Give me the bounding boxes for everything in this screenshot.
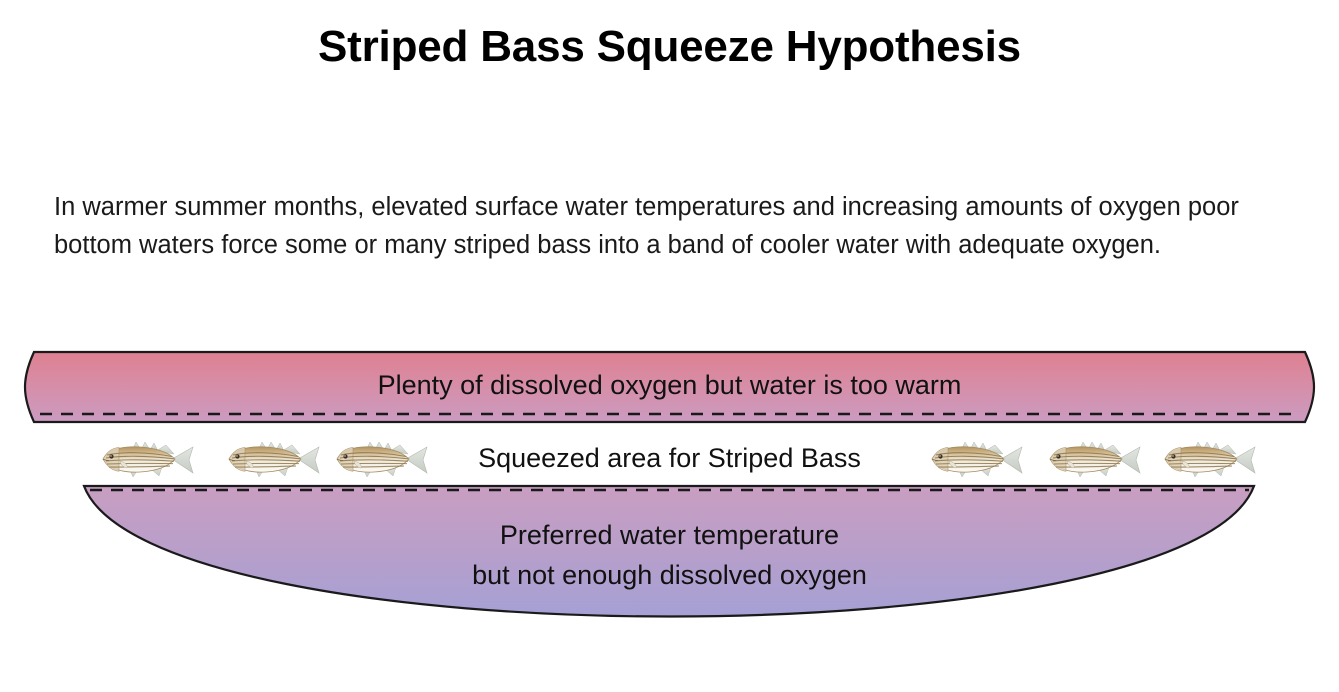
striped-bass-fish-icon xyxy=(96,437,196,483)
bottom-layer-shape xyxy=(84,486,1254,617)
surface-layer-fill xyxy=(25,352,1314,422)
bottom-layer-fill xyxy=(84,486,1254,617)
striped-bass-fish-icon xyxy=(925,437,1025,483)
striped-bass-fish-icon xyxy=(222,437,322,483)
striped-bass-fish-icon xyxy=(1158,437,1258,483)
surface-layer-shape xyxy=(25,352,1314,422)
intro-paragraph: In warmer summer months, elevated surfac… xyxy=(54,188,1294,264)
striped-bass-fish-icon xyxy=(330,437,430,483)
striped-bass-squeeze-diagram xyxy=(0,330,1339,660)
striped-bass-fish-icon xyxy=(1043,437,1143,483)
page-title: Striped Bass Squeeze Hypothesis xyxy=(0,22,1339,73)
